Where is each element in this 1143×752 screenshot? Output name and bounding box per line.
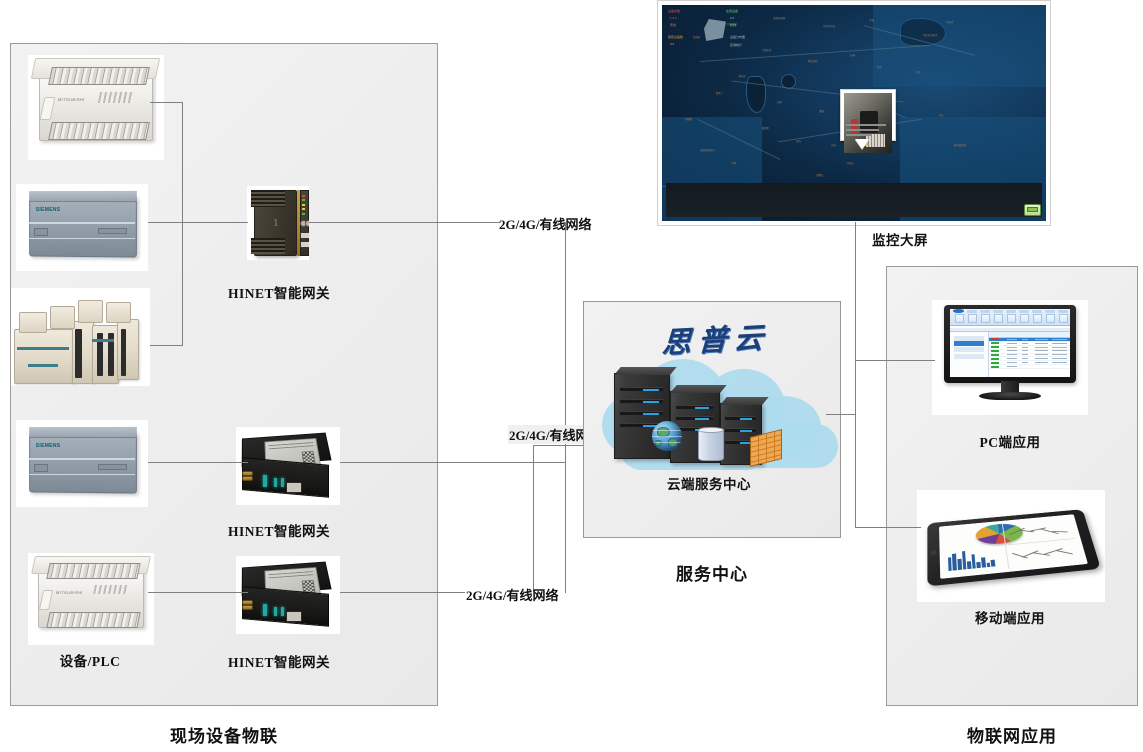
- gateway-caption-1: HINET智能网关: [203, 282, 355, 302]
- zone-caption-field: 现场设备物联: [94, 722, 354, 747]
- plc-mitsubishi-icon: MITSUBISHI: [28, 55, 164, 160]
- connector-plc1-bus: [150, 102, 183, 103]
- gateway-caption-2: HINET智能网关: [203, 520, 355, 540]
- gateway-din-icon: 1: [247, 186, 309, 260]
- connector-left-trunk: [182, 102, 183, 346]
- mobile-application-caption: 移动端应用: [952, 607, 1068, 627]
- plc-rack-icon: [11, 288, 150, 386]
- map-canvas: 克孜勒 阿斯塔纳 新西伯利亚 伊尔库茨克 赤塔 哈巴罗夫斯克 马加丹 乌鲁木齐 …: [662, 5, 1046, 221]
- map-device-popup: [840, 89, 896, 141]
- plc-siemens-icon: SIEMENS: [16, 184, 148, 271]
- device-plc-caption: 设备/PLC: [20, 650, 160, 670]
- network-label-1: 2G/4G/有线网络: [499, 214, 591, 233]
- connector-cloud-to-trunk: [826, 414, 856, 415]
- database-icon: [698, 429, 724, 461]
- gateway-caption-3: HINET智能网关: [203, 651, 355, 671]
- desktop-monitor-icon: [932, 300, 1088, 415]
- connector-plc2-gateway: [148, 222, 248, 223]
- cloud-caption: 云端服务中心: [636, 473, 782, 493]
- connector-right-trunk: [855, 222, 856, 527]
- connector-trunk-to-mobile: [855, 527, 921, 528]
- diagram-canvas: MITSUBISHI SIEMENS SIEMENS: [0, 0, 1143, 752]
- connector-gw3-out: [340, 592, 465, 593]
- map-legend-hud: 设备总数 在线设备 1 2 4 9 8 离线 在线 报警设备数 0 6 设备分布…: [668, 9, 783, 51]
- zone-caption-applications: 物联网应用: [932, 722, 1092, 747]
- brand-logo: 思普云: [661, 314, 771, 362]
- gateway-box-icon: [236, 427, 340, 505]
- screen-status-badge: [1024, 204, 1041, 216]
- connector-gw2-out: [340, 462, 565, 463]
- globe-icon: [652, 421, 682, 451]
- monitoring-big-screen: 克孜勒 阿斯塔纳 新西伯利亚 伊尔库茨克 赤塔 哈巴罗夫斯克 马加丹 乌鲁木齐 …: [657, 0, 1051, 226]
- map-bottom-bar: [666, 183, 1042, 217]
- monitor-wall-caption: 监控大屏: [840, 229, 960, 249]
- connector-trunk-branch: [533, 445, 534, 592]
- connector-gw1-out: [309, 222, 500, 223]
- tablet-icon: [917, 490, 1105, 602]
- connector-plc3-bus: [150, 345, 183, 346]
- zone-caption-service-center: 服务中心: [592, 560, 832, 585]
- cloud-service-graphic: 思普云: [590, 325, 835, 495]
- plc-mitsubishi-icon-2: MITSUBISHI: [28, 553, 154, 645]
- connector-plc4-gateway: [148, 462, 248, 463]
- plc-siemens-icon-2: SIEMENS: [16, 420, 148, 507]
- network-label-3: 2G/4G/有线网络: [466, 585, 558, 604]
- connector-center-trunk: [565, 222, 566, 593]
- connector-plc5-gateway: [148, 592, 248, 593]
- pc-application-caption: PC端应用: [952, 431, 1068, 451]
- gateway-box-icon-2: [236, 556, 340, 634]
- connector-trunk-to-pc: [855, 360, 935, 361]
